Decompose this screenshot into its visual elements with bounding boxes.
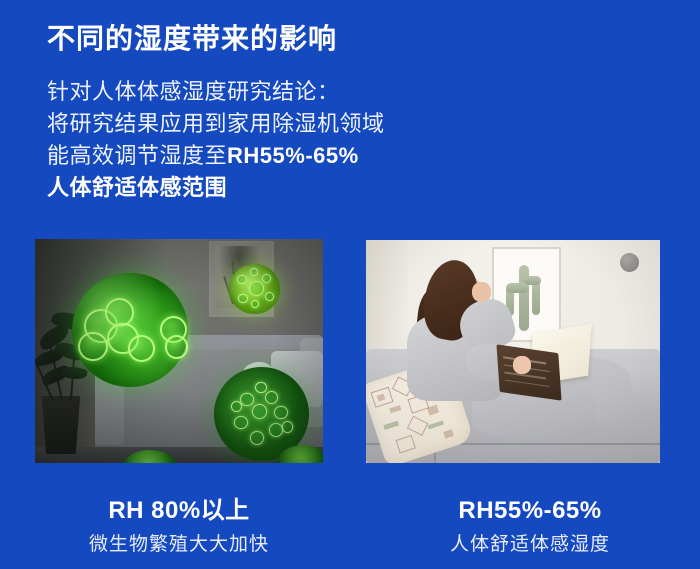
photo-comfort-humidity [366,240,660,463]
scene-vignette [35,239,323,463]
intro-line-1: 针对人体体感湿度研究结论： [47,76,487,108]
page-title: 不同的湿度带来的影响 [47,17,337,57]
caption-high-humidity: RH 80%以上 微生物繁殖大大加快 [29,496,329,559]
scene-vignette [366,240,660,463]
scene-dark-living-room [35,239,323,463]
intro-line-3: 能高效调节湿度至RH55%-65% [47,140,487,172]
intro-line-3-highlight: RH55%-65% [227,143,359,168]
scene-bright-living-room [366,240,660,463]
intro-line-4: 人体舒适体感范围 [47,172,487,204]
caption-main-text: RH55%-65% [380,496,680,526]
caption-sub-text: 人体舒适体感湿度 [380,531,680,559]
intro-paragraph: 针对人体体感湿度研究结论： 将研究结果应用到家用除湿机领域 能高效调节湿度至RH… [47,76,487,204]
caption-main-text: RH 80%以上 [29,496,329,526]
intro-line-2: 将研究结果应用到家用除湿机领域 [47,108,487,140]
caption-comfort-humidity: RH55%-65% 人体舒适体感湿度 [380,496,680,559]
humidity-infographic-poster: 不同的湿度带来的影响 针对人体体感湿度研究结论： 将研究结果应用到家用除湿机领域… [0,0,700,569]
caption-sub-text: 微生物繁殖大大加快 [29,531,329,559]
photo-high-humidity [35,239,323,463]
intro-line-3-prefix: 能高效调节湿度至 [47,143,227,168]
